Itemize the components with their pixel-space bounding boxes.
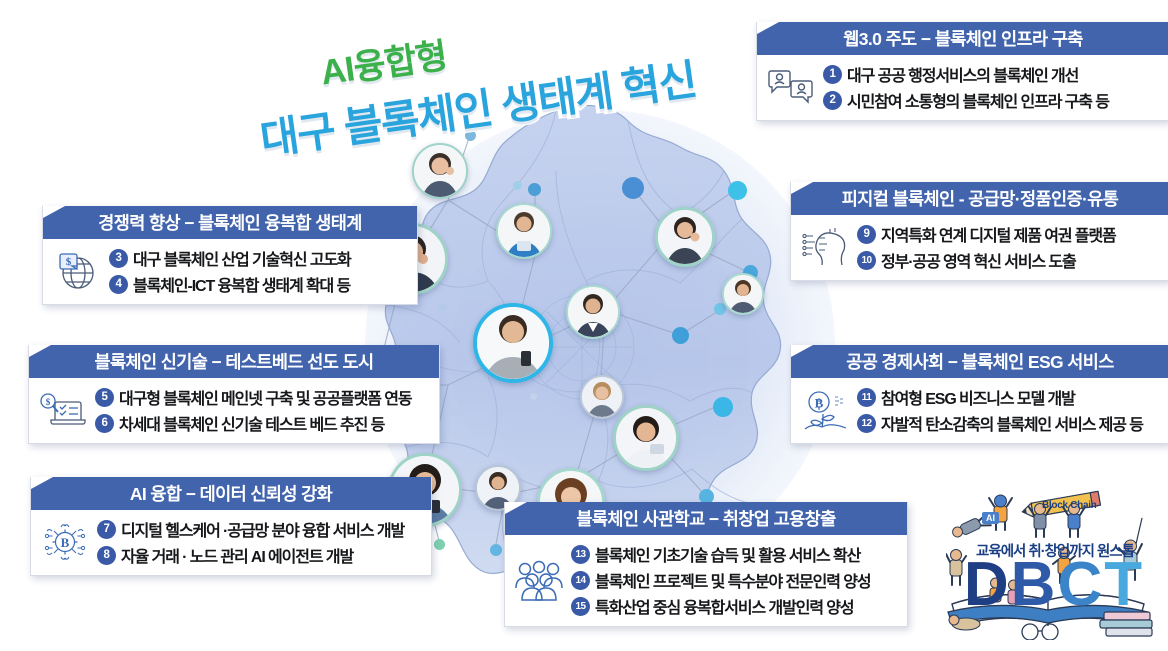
network-node	[513, 181, 522, 190]
list-item: 4 블록체인-ICT 융복합 생태계 확대 등	[109, 272, 351, 296]
list-item: 1 대구 공공 행정서비스의 블록체인 개선	[823, 62, 1109, 86]
svg-text:$: $	[46, 397, 51, 407]
box-items-academy: 13 블록체인 기초기술 습득 및 활용 서비스 확산 14 블록체인 프로젝트…	[571, 542, 871, 618]
logo-letter-b: B	[1011, 550, 1058, 619]
avatar-center	[473, 303, 553, 383]
box-items-esg: 11 참여형 ESG 비즈니스 모델 개발 12 자발적 탄소감축의 블록체인 …	[857, 385, 1143, 435]
infographic-canvas: AI융합형 대구 블록체인 생태계 혁신 웹3.0 주도 − 블록체인 인프라 …	[0, 0, 1168, 651]
box-header-web3: 웹3.0 주도 − 블록체인 인프라 구축	[757, 22, 1168, 55]
item-number-badge: 11	[857, 388, 876, 407]
box-items-compete: 3 대구 블록체인 산업 기술혁신 고도화 4 블록체인-ICT 융복합 생태계…	[109, 246, 351, 296]
avatar	[655, 207, 715, 267]
box-body-physical: 9 지역특화 연계 디지털 제품 여권 플랫폼 10 정부·공공 영역 혁신 서…	[791, 215, 1168, 280]
laptop-checklist-icon: $	[37, 386, 89, 434]
item-number-badge: 5	[95, 388, 114, 407]
box-items-physical: 9 지역특화 연계 디지털 제품 여권 플랫폼 10 정부·공공 영역 혁신 서…	[857, 222, 1116, 272]
box-header-compete: 경쟁력 향상 − 블록체인 융복합 생태계	[43, 206, 417, 239]
network-node	[622, 177, 644, 199]
list-item: 7 디지털 헬스케어 ·공급망 분야 융합 서비스 개발	[97, 517, 404, 541]
item-text: 블록체인-ICT 융복합 생태계 확대 등	[133, 272, 350, 296]
item-text: 자발적 탄소감축의 블록체인 서비스 제공 등	[881, 411, 1143, 435]
info-box-compete[interactable]: 경쟁력 향상 − 블록체인 융복합 생태계 $ 3 대구 블록체인 산업 기술혁…	[42, 206, 418, 305]
item-number-badge: 12	[857, 414, 876, 433]
box-items-aifusion: 7 디지털 헬스케어 ·공급망 분야 융합 서비스 개발 8 자율 거래 · 노…	[97, 517, 404, 567]
box-body-newtech: $ 5 대구형 블록체인 메인넷 구축 및 공공플랫폼 연동 6 차세대 블록체…	[29, 378, 439, 443]
logo-letters: DBCT	[956, 554, 1152, 616]
network-node	[438, 303, 446, 311]
item-text: 지역특화 연계 디지털 제품 여권 플랫폼	[881, 222, 1116, 246]
item-number-badge: 7	[97, 520, 116, 539]
bitcoin-network-icon: B	[39, 518, 91, 566]
item-text: 정부·공공 영역 혁신 서비스 도출	[881, 248, 1076, 272]
box-header-physical: 피지컬 블록체인 - 공급망·정품인증·유통	[791, 182, 1168, 215]
network-node	[528, 183, 541, 196]
ai-head-circuit-icon	[799, 223, 851, 271]
network-node	[728, 181, 747, 200]
list-item: 9 지역특화 연계 디지털 제품 여권 플랫폼	[857, 222, 1116, 246]
box-body-esg: B 11 참여형 ESG 비즈니스 모델 개발 12	[791, 378, 1168, 443]
user-chat-icon	[765, 63, 817, 111]
item-number-badge: 9	[857, 225, 876, 244]
info-box-academy[interactable]: 블록체인 사관학교 − 취창업 고용창출 13 블록체인 기초기술 습득 및 활…	[504, 502, 908, 627]
list-item: 3 대구 블록체인 산업 기술혁신 고도화	[109, 246, 351, 270]
item-number-badge: 3	[109, 249, 128, 268]
network-node	[672, 327, 689, 344]
item-text: 블록체인 프로젝트 및 특수분야 전문인력 양성	[595, 568, 871, 592]
item-text: 대구형 블록체인 메인넷 구축 및 공공플랫폼 연동	[119, 385, 411, 409]
item-number-badge: 15	[571, 597, 590, 616]
info-box-physical[interactable]: 피지컬 블록체인 - 공급망·정품인증·유통 9 지역특화	[790, 182, 1168, 281]
item-text: 자율 거래 · 노드 관리 AI 에이전트 개발	[121, 543, 353, 567]
svg-text:$: $	[66, 256, 72, 268]
item-number-badge: 10	[857, 251, 876, 270]
box-items-newtech: 5 대구형 블록체인 메인넷 구축 및 공공플랫폼 연동 6 차세대 블록체인 …	[95, 385, 411, 435]
item-number-badge: 8	[97, 546, 116, 565]
logo-ai-label: AI	[982, 512, 999, 524]
info-box-newtech[interactable]: 블록체인 신기술 − 테스트베드 선도 도시 $ 5 대구형 블록체인 메인넷 …	[28, 345, 440, 444]
logo-letter-t: T	[1104, 550, 1144, 619]
item-text: 특화산업 중심 융복합서비스 개발인력 양성	[595, 594, 854, 618]
box-body-academy: 13 블록체인 기초기술 습득 및 활용 서비스 확산 14 블록체인 프로젝트…	[505, 535, 907, 626]
logo-letter-d: D	[964, 550, 1011, 619]
page-title: AI융합형 대구 블록체인 생태계 혁신	[262, 18, 682, 148]
item-text: 차세대 블록체인 신기술 테스트 베드 추진 등	[119, 411, 384, 435]
svg-text:B: B	[61, 535, 70, 550]
item-text: 대구 블록체인 산업 기술혁신 고도화	[133, 246, 351, 270]
list-item: 11 참여형 ESG 비즈니스 모델 개발	[857, 385, 1143, 409]
avatar	[613, 405, 679, 471]
network-node	[713, 397, 733, 417]
box-body-compete: $ 3 대구 블록체인 산업 기술혁신 고도화 4 블록체인-ICT 융복합 생…	[43, 239, 417, 304]
people-group-icon	[513, 548, 565, 612]
bitcoin-sprout-icon: B	[799, 386, 851, 434]
list-item: 14 블록체인 프로젝트 및 특수분야 전문인력 양성	[571, 568, 871, 592]
info-box-aifusion[interactable]: AI 융합 − 데이터 신뢰성 강화 B	[30, 477, 432, 576]
avatar	[722, 273, 764, 315]
globe-money-icon: $	[51, 247, 103, 295]
avatar	[580, 375, 624, 419]
item-text: 참여형 ESG 비즈니스 모델 개발	[881, 385, 1075, 409]
box-items-web3: 1 대구 공공 행정서비스의 블록체인 개선 2 시민참여 소통형의 블록체인 …	[823, 62, 1109, 112]
box-header-esg: 공공 경제사회 − 블록체인 ESG 서비스	[791, 345, 1168, 378]
item-number-badge: 6	[95, 414, 114, 433]
item-number-badge: 1	[823, 65, 842, 84]
logo-letter-c: C	[1057, 550, 1104, 619]
item-number-badge: 14	[571, 571, 590, 590]
info-box-esg[interactable]: 공공 경제사회 − 블록체인 ESG 서비스 B 1	[790, 345, 1168, 444]
item-text: 시민참여 소통형의 블록체인 인프라 구축 등	[847, 88, 1109, 112]
avatar	[496, 203, 552, 259]
item-text: 대구 공공 행정서비스의 블록체인 개선	[847, 62, 1078, 86]
box-body-aifusion: B 7 디지털 헬스케어 ·공급망 분야 융합	[31, 510, 431, 575]
list-item: 10 정부·공공 영역 혁신 서비스 도출	[857, 248, 1116, 272]
item-number-badge: 4	[109, 275, 128, 294]
item-number-badge: 2	[823, 91, 842, 110]
list-item: 8 자율 거래 · 노드 관리 AI 에이전트 개발	[97, 543, 404, 567]
item-text: 블록체인 기초기술 습득 및 활용 서비스 확산	[595, 542, 860, 566]
item-number-badge: 13	[571, 545, 590, 564]
item-text: 디지털 헬스케어 ·공급망 분야 융합 서비스 개발	[121, 517, 404, 541]
box-body-web3: 1 대구 공공 행정서비스의 블록체인 개선 2 시민참여 소통형의 블록체인 …	[757, 55, 1168, 120]
box-header-newtech: 블록체인 신기술 − 테스트베드 선도 도시	[29, 345, 439, 378]
avatar	[566, 285, 620, 339]
list-item: 2 시민참여 소통형의 블록체인 인프라 구축 등	[823, 88, 1109, 112]
box-header-aifusion: AI 융합 − 데이터 신뢰성 강화	[31, 477, 431, 510]
list-item: 6 차세대 블록체인 신기술 테스트 베드 추진 등	[95, 411, 411, 435]
list-item: 12 자발적 탄소감축의 블록체인 서비스 제공 등	[857, 411, 1143, 435]
list-item: 13 블록체인 기초기술 습득 및 활용 서비스 확산	[571, 542, 871, 566]
network-node	[490, 544, 502, 556]
list-item: 15 특화산업 중심 융복합서비스 개발인력 양성	[571, 594, 871, 618]
list-item: 5 대구형 블록체인 메인넷 구축 및 공공플랫폼 연동	[95, 385, 411, 409]
dbct-logo: AI Block Chain 교육에서 취·창업까지 원스톱 DBCT	[946, 484, 1160, 640]
info-box-web3[interactable]: 웹3.0 주도 − 블록체인 인프라 구축 1 대구 공공 행정서비스의 블록체…	[756, 22, 1168, 121]
logo-blockchain-label: Block Chain	[1042, 500, 1097, 511]
avatar	[412, 143, 468, 199]
box-header-academy: 블록체인 사관학교 − 취창업 고용창출	[505, 502, 907, 535]
network-node	[530, 393, 537, 400]
network-node	[434, 539, 445, 550]
